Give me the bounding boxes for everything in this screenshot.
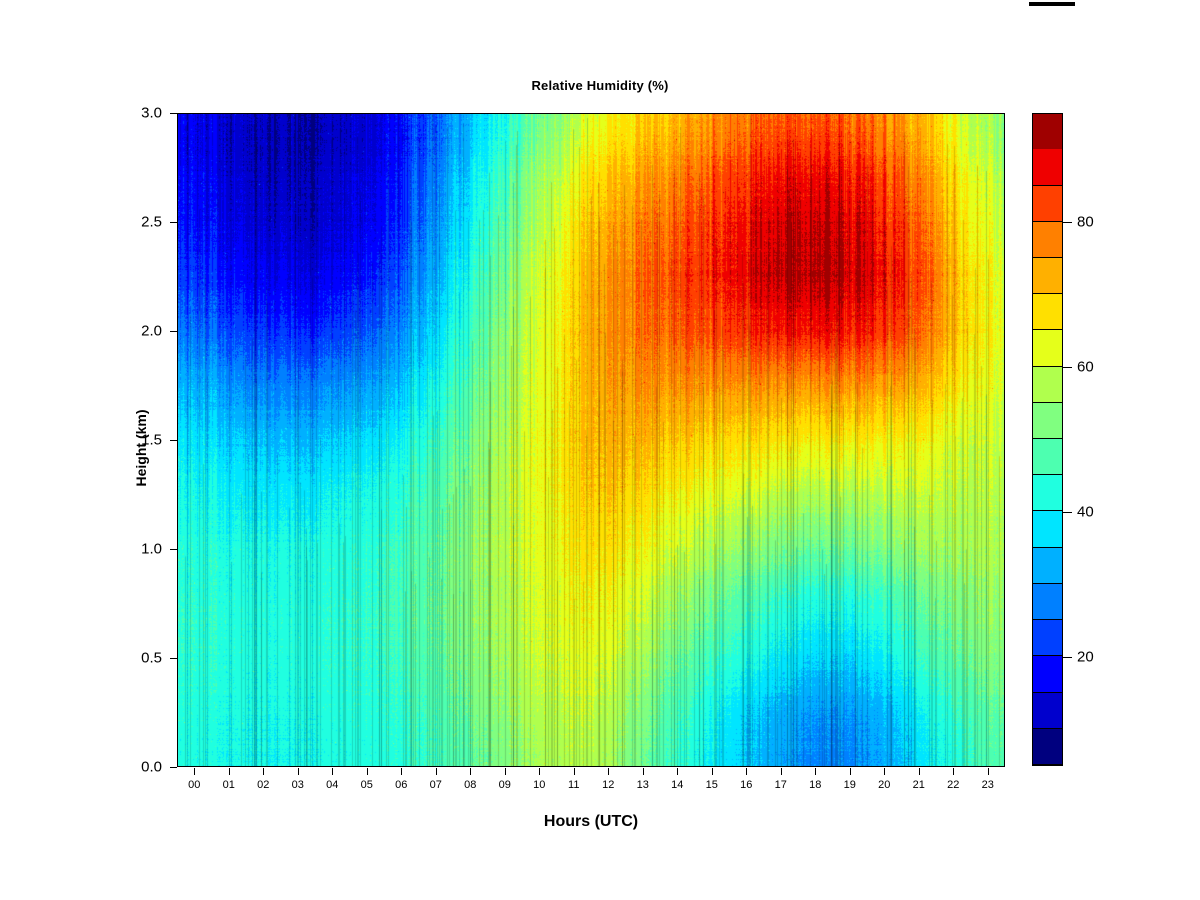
x-axis-tick-label: 03	[283, 779, 313, 791]
x-axis-tick-label: 12	[593, 779, 623, 791]
x-axis-tick-label: 04	[317, 779, 347, 791]
y-axis-title: Height (km)	[133, 368, 149, 528]
x-axis-tick-mark	[781, 768, 782, 775]
y-axis-tick-mark	[170, 113, 177, 114]
colorbar-tick-label: 40	[1077, 504, 1094, 521]
colorbar-band	[1033, 511, 1062, 547]
colorbar-band	[1033, 186, 1062, 222]
x-axis-tick-mark	[643, 768, 644, 775]
y-axis-tick-mark	[170, 331, 177, 332]
x-axis-tick-mark	[988, 768, 989, 775]
colorbar-tick-mark	[1063, 222, 1072, 223]
x-axis-tick-mark	[470, 768, 471, 775]
x-axis-tick-label: 19	[835, 779, 865, 791]
x-axis-tick-label: 23	[973, 779, 1003, 791]
heatmap-plot-area	[177, 113, 1005, 767]
x-axis-tick-mark	[712, 768, 713, 775]
x-axis-tick-label: 22	[938, 779, 968, 791]
y-axis-tick-mark	[170, 222, 177, 223]
x-axis-tick-mark	[608, 768, 609, 775]
colorbar-band	[1033, 330, 1062, 366]
page-title: Relative Humidity (%)	[0, 78, 1200, 93]
colorbar-tick-label: 80	[1077, 213, 1094, 230]
colorbar-band	[1033, 584, 1062, 620]
x-axis-tick-mark	[436, 768, 437, 775]
x-axis-tick-label: 00	[179, 779, 209, 791]
colorbar-band	[1033, 403, 1062, 439]
x-axis-tick-mark	[953, 768, 954, 775]
x-axis-tick-label: 21	[904, 779, 934, 791]
colorbar-tick-mark	[1063, 657, 1072, 658]
x-axis-tick-label: 06	[386, 779, 416, 791]
x-axis-tick-mark	[746, 768, 747, 775]
x-axis-tick-label: 07	[421, 779, 451, 791]
colorbar	[1032, 113, 1063, 766]
colorbar-tick-label: 20	[1077, 649, 1094, 666]
y-axis-tick-label: 0.0	[141, 759, 162, 776]
colorbar-band	[1033, 439, 1062, 475]
x-axis-tick-mark	[194, 768, 195, 775]
colorbar-band	[1033, 294, 1062, 330]
heatmap-canvas	[177, 113, 1005, 767]
x-axis-tick-label: 20	[869, 779, 899, 791]
y-axis-tick-label: 1.0	[141, 541, 162, 558]
x-axis-title: Hours (UTC)	[0, 813, 1182, 831]
colorbar-band	[1033, 656, 1062, 692]
x-axis-tick-label: 11	[559, 779, 589, 791]
x-axis-tick-label: 17	[766, 779, 796, 791]
y-axis-tick-label: 3.0	[141, 105, 162, 122]
x-axis-tick-label: 09	[490, 779, 520, 791]
x-axis-tick-mark	[263, 768, 264, 775]
x-axis-tick-mark	[298, 768, 299, 775]
colorbar-tick-mark	[1063, 512, 1072, 513]
x-axis-tick-mark	[539, 768, 540, 775]
y-axis-tick-mark	[170, 549, 177, 550]
colorbar-band	[1033, 693, 1062, 729]
x-axis-tick-mark	[229, 768, 230, 775]
colorbar-band	[1033, 729, 1062, 765]
relative-humidity-figure: Relative Humidity (%) 0.00.51.01.52.02.5…	[0, 0, 1200, 900]
x-axis-tick-label: 14	[662, 779, 692, 791]
x-axis-tick-mark	[884, 768, 885, 775]
y-axis-tick-mark	[170, 440, 177, 441]
x-axis-tick-mark	[401, 768, 402, 775]
x-axis-tick-label: 05	[352, 779, 382, 791]
x-axis-tick-mark	[505, 768, 506, 775]
x-axis-tick-label: 01	[214, 779, 244, 791]
y-axis-tick-label: 2.0	[141, 323, 162, 340]
colorbar-tick-mark	[1063, 367, 1072, 368]
colorbar-band	[1033, 149, 1062, 185]
x-axis-tick-mark	[919, 768, 920, 775]
x-axis-tick-label: 15	[697, 779, 727, 791]
x-axis-tick-mark	[815, 768, 816, 775]
y-axis-tick-label: 2.5	[141, 214, 162, 231]
clipped-artifact-mark	[1029, 2, 1075, 6]
x-axis-tick-mark	[677, 768, 678, 775]
y-axis-tick-mark	[170, 767, 177, 768]
x-axis-tick-label: 13	[628, 779, 658, 791]
y-axis-tick-mark	[170, 658, 177, 659]
colorbar-band	[1033, 548, 1062, 584]
colorbar-band	[1033, 620, 1062, 656]
colorbar-band	[1033, 258, 1062, 294]
x-axis-tick-label: 08	[455, 779, 485, 791]
colorbar-band	[1033, 367, 1062, 403]
colorbar-band	[1033, 114, 1062, 149]
x-axis-tick-mark	[850, 768, 851, 775]
y-axis-tick-label: 0.5	[141, 650, 162, 667]
colorbar-band	[1033, 222, 1062, 258]
x-axis-tick-label: 10	[524, 779, 554, 791]
x-axis-tick-label: 02	[248, 779, 278, 791]
x-axis-tick-label: 18	[800, 779, 830, 791]
x-axis-tick-mark	[574, 768, 575, 775]
x-axis-tick-mark	[367, 768, 368, 775]
colorbar-tick-label: 60	[1077, 358, 1094, 375]
x-axis-tick-label: 16	[731, 779, 761, 791]
x-axis-tick-mark	[332, 768, 333, 775]
colorbar-band	[1033, 475, 1062, 511]
